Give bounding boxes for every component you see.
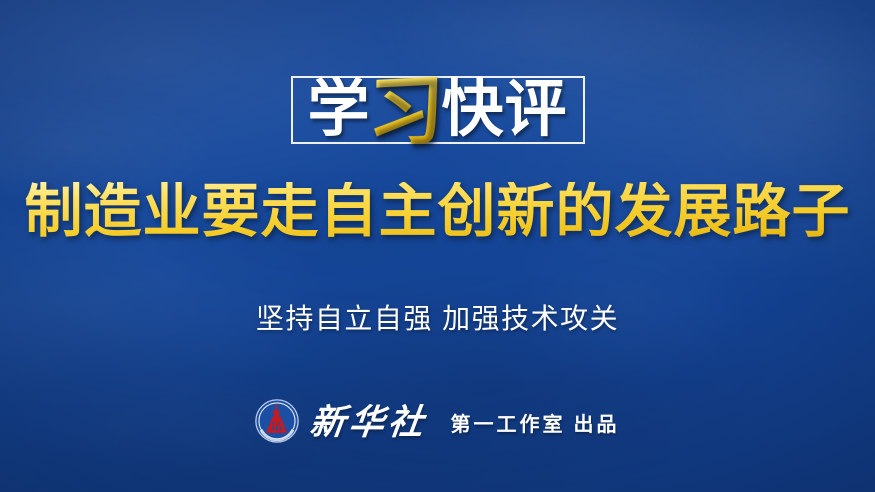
- banner-char-2-gold-brush: 习: [367, 73, 445, 153]
- xinhua-emblem-icon: [255, 399, 299, 443]
- agency-name: 新华社: [308, 405, 429, 440]
- program-banner: 学 习 快 评: [0, 58, 875, 162]
- poster-canvas: 学 习 快 评 制造业要走自主创新的发展路子 坚持自立自强 加强技术攻关: [0, 0, 875, 492]
- headline-title: 制造业要走自主创新的发展路子: [0, 182, 875, 243]
- banner-char-3: 快: [441, 79, 504, 141]
- banner-char-4: 评: [505, 79, 568, 141]
- banner-frame: 学 习 快 评: [291, 76, 585, 144]
- banner-char-1: 学: [307, 79, 370, 141]
- footer-credit: 新华社 第一工作室 出品: [0, 396, 875, 446]
- studio-credit: 第一工作室 出品: [451, 415, 620, 435]
- subtitle-text: 坚持自立自强 加强技术攻关: [0, 297, 875, 337]
- banner-characters: 学 习 快 评: [307, 72, 567, 148]
